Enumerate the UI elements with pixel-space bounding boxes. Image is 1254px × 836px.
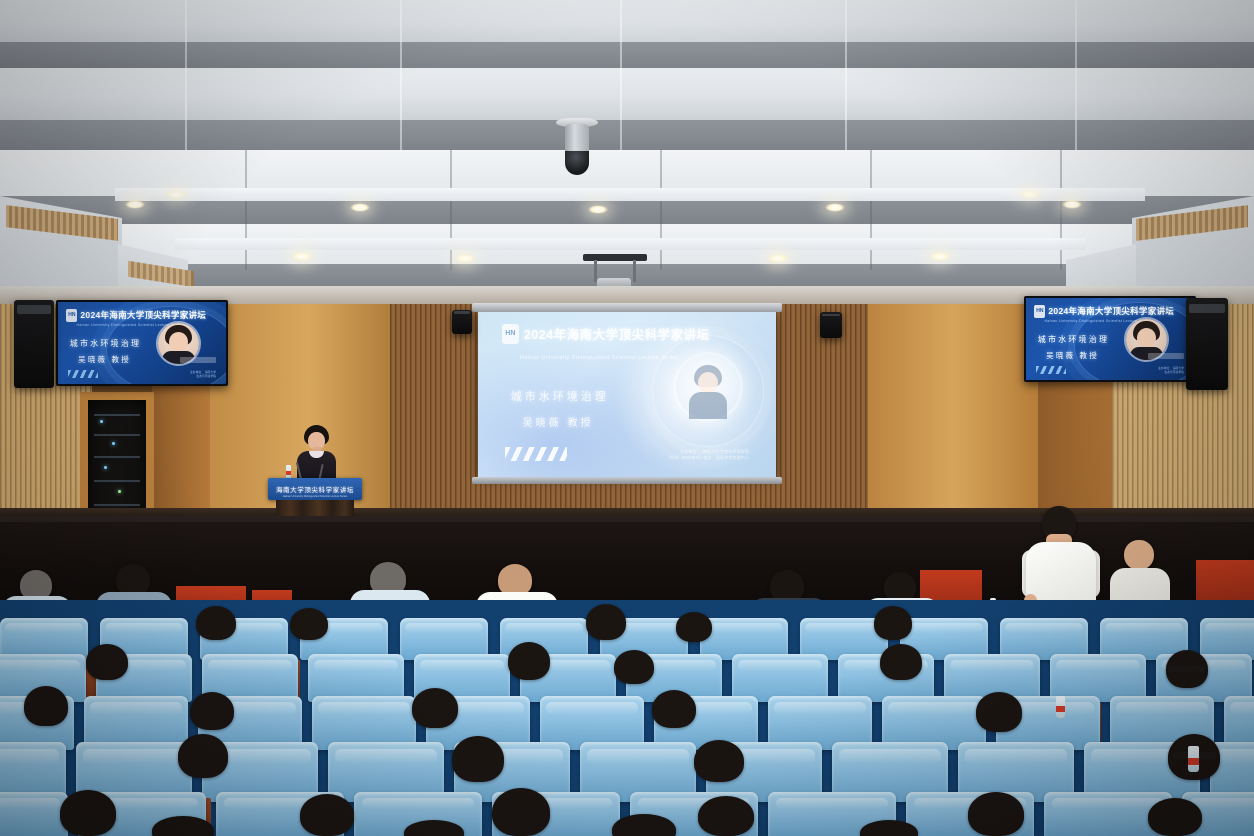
attendee-head <box>196 606 236 640</box>
monitor-name-plate <box>180 357 216 363</box>
ceiling-downlight <box>350 203 370 212</box>
attendee-head <box>412 688 458 728</box>
attendee-head <box>968 792 1024 836</box>
ceiling-downlight <box>455 254 475 263</box>
ceiling <box>0 0 1254 300</box>
attendee-head <box>1148 798 1202 836</box>
slide-subtitle: Hainan University Distinguished Scientis… <box>520 355 679 361</box>
university-logo-icon: HN <box>1034 305 1045 318</box>
slide-header: HN 2024年海南大学顶尖科学家讲坛 <box>502 324 764 344</box>
university-logo-icon: HN <box>66 309 77 322</box>
attendee-head <box>178 734 228 778</box>
water-bottle <box>1188 746 1199 772</box>
ceiling-downlight <box>1062 200 1082 209</box>
attendee-head <box>976 692 1022 732</box>
eyeglasses-icon <box>1168 666 1204 672</box>
attendee-head <box>300 794 354 836</box>
ceiling-downlight <box>166 190 186 199</box>
auditorium-photo: HN 2024年海南大学顶尖科学家讲坛 Hainan University Di… <box>0 0 1254 836</box>
monitor-stripe-decoration <box>1036 366 1066 374</box>
attendee-head <box>492 788 550 836</box>
wall-speaker-center-right <box>820 312 842 338</box>
monitor-stripe-decoration <box>68 370 98 378</box>
university-logo-icon: HN <box>502 324 519 344</box>
attendee-head <box>60 790 116 836</box>
monitor-title: 2024年海南大学顶尖科学家讲坛 <box>80 309 206 321</box>
ceiling-downlight <box>588 205 608 214</box>
attendee-head <box>874 606 912 640</box>
attendee-head <box>880 644 922 680</box>
seat <box>0 792 68 836</box>
seat <box>732 654 828 702</box>
monitor-footer: 主办单位： 海南大学 生态与环境学院 <box>1158 366 1184 376</box>
podium-sign: 海南大学顶尖科学家讲坛 Hainan University Distinguis… <box>268 478 362 500</box>
ptz-dome-camera-icon <box>556 118 598 180</box>
audience-seating <box>0 600 1254 836</box>
monitor-title: 2024年海南大学顶尖科学家讲坛 <box>1048 305 1174 317</box>
attendee-head <box>614 650 654 684</box>
wall-speaker-left <box>14 300 54 388</box>
slide-stripe-decoration <box>505 447 567 461</box>
podium-sign-text: 海南大学顶尖科学家讲坛 <box>276 484 354 494</box>
seat <box>308 654 404 702</box>
attendee-head <box>508 642 550 680</box>
screen-bottom-bar <box>472 477 782 484</box>
projection-screen: HN 2024年海南大学顶尖科学家讲坛 Hainan University Di… <box>478 312 776 477</box>
slide-title: 2024年海南大学顶尖科学家讲坛 <box>524 324 710 343</box>
wall-speaker-center-left <box>452 310 472 334</box>
attendee-head <box>652 690 696 728</box>
water-bottle <box>1056 696 1065 718</box>
attendee-head <box>24 686 68 726</box>
ceiling-downlight <box>1020 190 1040 199</box>
attendee-head <box>694 740 744 782</box>
slide-speaker-portrait <box>676 355 740 419</box>
left-wall-monitor: HN 2024年海南大学顶尖科学家讲坛 Hainan University Di… <box>56 300 228 386</box>
ceiling-downlight <box>930 252 950 261</box>
attendee-head <box>290 608 328 640</box>
slide-footer: 主办单位： 海南大学 生态与环境学院 时间：2024年9月 地点：国际学术交流中… <box>669 449 749 462</box>
seat <box>1050 654 1146 702</box>
slide-speaker-name: 吴晓薇 教授 <box>523 414 594 429</box>
water-bottle <box>286 465 291 479</box>
monitor-name-plate <box>1148 353 1184 359</box>
slide-topic: 城市水环境治理 <box>511 388 609 404</box>
monitor-footer: 主办单位： 海南大学 生态与环境学院 <box>190 370 216 380</box>
attendee-head <box>86 644 128 680</box>
monitor-topic: 城市水环境治理 <box>1038 334 1109 345</box>
attendee-head <box>190 692 234 730</box>
monitor-topic: 城市水环境治理 <box>70 338 141 349</box>
monitor-speaker-name: 吴晓薇 教授 <box>1046 350 1099 361</box>
ceiling-downlight <box>768 254 788 263</box>
attendee-head <box>676 612 712 642</box>
attendee-head <box>586 604 626 640</box>
ceiling-downlight <box>825 203 845 212</box>
ceiling-downlight <box>125 200 145 209</box>
wall-speaker-right <box>1186 298 1228 390</box>
attendee-head <box>452 736 504 782</box>
right-wall-monitor: HN 2024年海南大学顶尖科学家讲坛 Hainan University Di… <box>1024 296 1196 382</box>
ceiling-downlight <box>292 252 312 261</box>
podium-sign-subtext: Hainan University Distinguished Scientis… <box>268 495 362 498</box>
monitor-speaker-name: 吴晓薇 教授 <box>78 354 131 365</box>
attendee-head <box>698 796 754 836</box>
presentation-slide: HN 2024年海南大学顶尖科学家讲坛 Hainan University Di… <box>478 312 776 477</box>
screen-casing <box>472 303 782 312</box>
